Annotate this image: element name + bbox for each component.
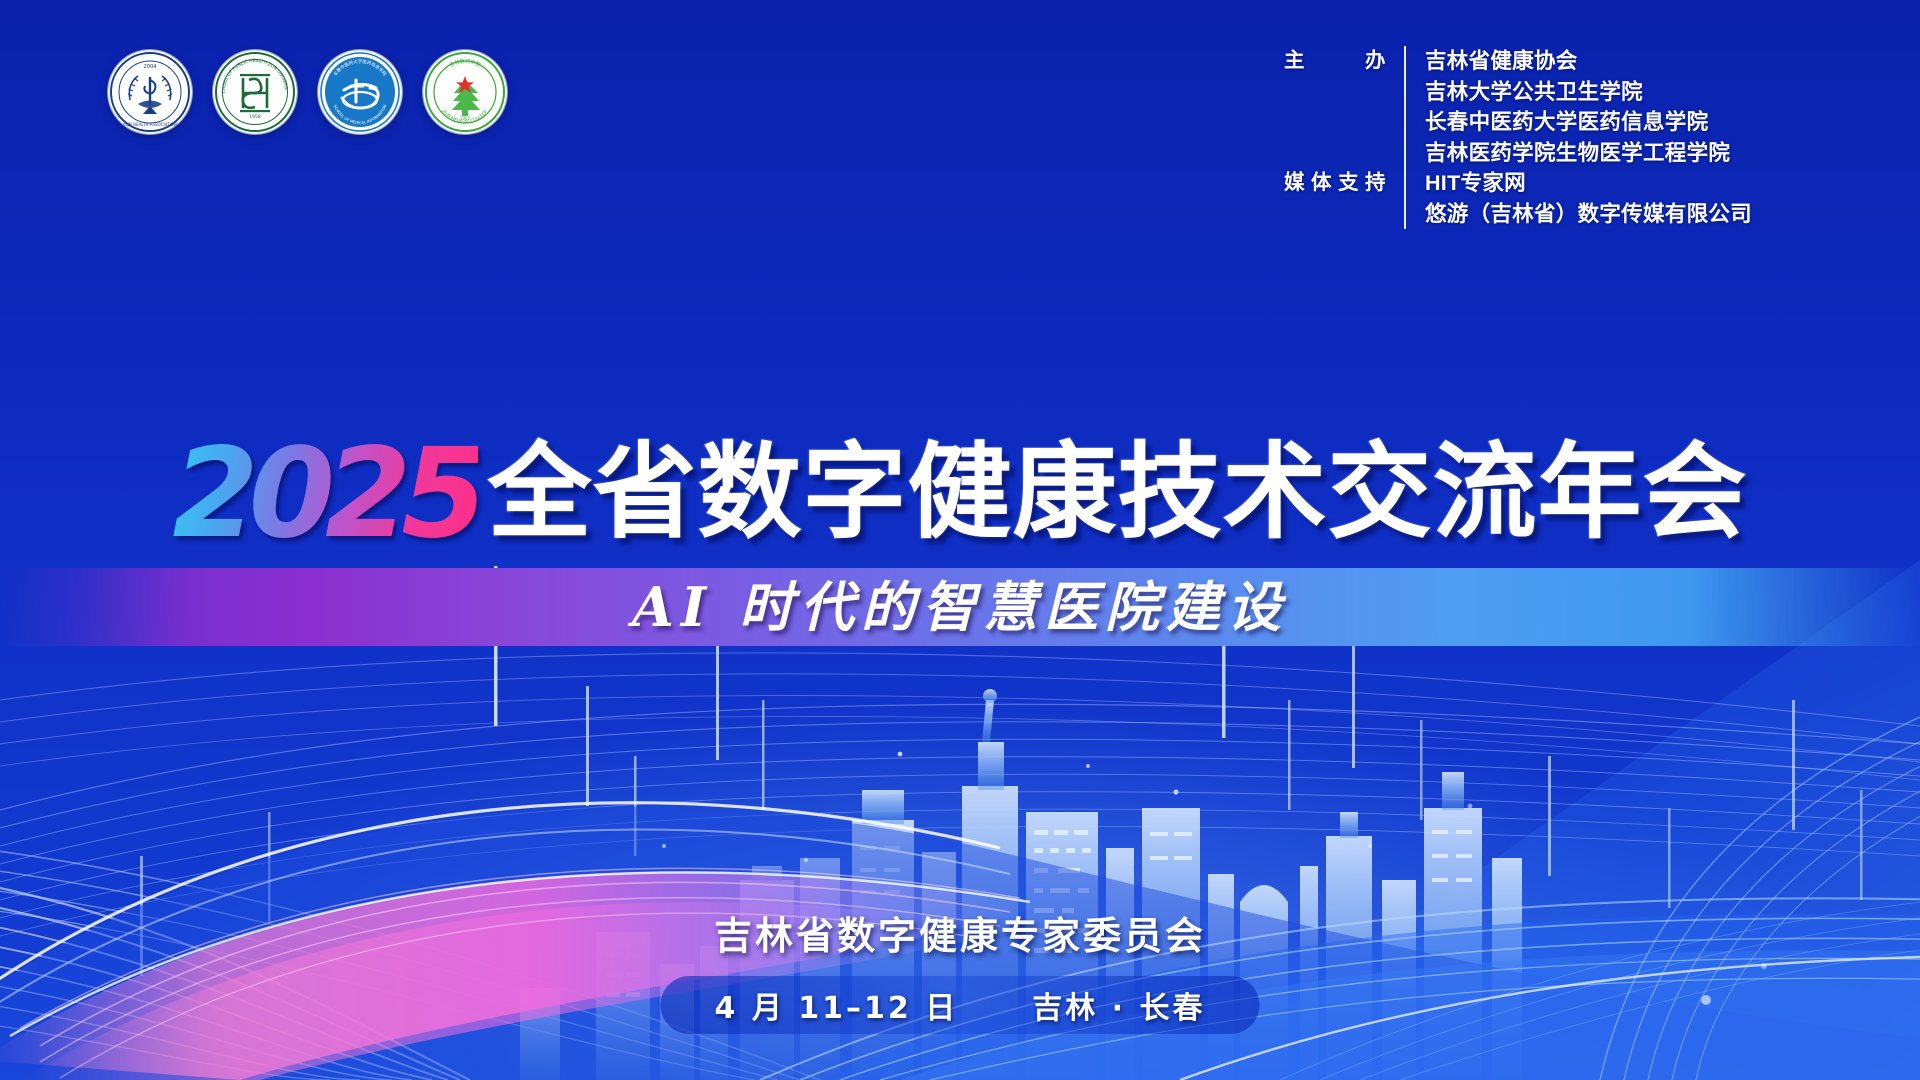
jilin-health-association-logo: 2004 JILIN HEALTH ASSOCIATION <box>108 50 192 134</box>
event-location: 吉林 · 长春 <box>1032 983 1205 1027</box>
credit-value: 悠游（吉林省）数字传媒有限公司 <box>1425 199 1752 230</box>
page-title: 全省数字健康技术交流年会 <box>488 440 1748 544</box>
committee-name: 吉林省数字健康专家委员会 <box>0 905 1920 960</box>
school-of-medical-information-logo: 长春中医药大学医药信息学院 SCHOOL OF MEDICAL INFORMAT… <box>318 50 402 134</box>
svg-text:JILIN HEALTH ASSOCIATION: JILIN HEALTH ASSOCIATION <box>122 122 177 127</box>
school-of-public-health-jilin-university-logo: 1958 SCHOOL OF PUBLIC HEALTH JILIN UNIVE… <box>213 50 297 134</box>
event-date: 4 月 11–12 日 <box>715 983 959 1027</box>
svg-text:2004: 2004 <box>143 64 157 70</box>
credit-value: 吉林省健康协会 <box>1425 46 1730 77</box>
credit-values-host: 吉林省健康协会 吉林大学公共卫生学院 长春中医药大学医药信息学院 吉林医药学院生… <box>1406 46 1730 168</box>
credit-value: 吉林医药学院生物医学工程学院 <box>1425 138 1730 169</box>
title-block: 2025全省数字健康技术交流年会 <box>0 432 1920 556</box>
credit-label-host: 主办 <box>1284 46 1404 76</box>
credit-group-media: 媒体支持 HIT专家网 悠游（吉林省）数字传媒有限公司 <box>1284 168 1752 229</box>
jilin-medical-college-logo: 1952 吉林医药学院 JILIN MEDICAL COLLEGE <box>423 50 507 134</box>
conference-banner: 2004 JILIN HEALTH ASSOCIATION 1958 <box>0 0 1920 1080</box>
credit-group-host: 主办 吉林省健康协会 吉林大学公共卫生学院 长春中医药大学医药信息学院 吉林医药… <box>1284 46 1752 168</box>
credit-value: HIT专家网 <box>1425 168 1752 199</box>
credit-value: 吉林大学公共卫生学院 <box>1425 77 1730 108</box>
subtitle: AI 时代的智慧医院建设 <box>0 570 1920 644</box>
organizer-logo-row: 2004 JILIN HEALTH ASSOCIATION 1958 <box>108 50 507 134</box>
svg-text:1958: 1958 <box>249 114 261 120</box>
credit-value: 长春中医药大学医药信息学院 <box>1425 107 1730 138</box>
credit-values-media: HIT专家网 悠游（吉林省）数字传媒有限公司 <box>1406 168 1752 229</box>
date-location-pill: 4 月 11–12 日 吉林 · 长春 <box>661 976 1260 1034</box>
credit-label-media: 媒体支持 <box>1284 168 1404 198</box>
year-2025: 2025 <box>172 432 477 556</box>
credits-block: 主办 吉林省健康协会 吉林大学公共卫生学院 长春中医药大学医药信息学院 吉林医药… <box>1284 46 1752 229</box>
